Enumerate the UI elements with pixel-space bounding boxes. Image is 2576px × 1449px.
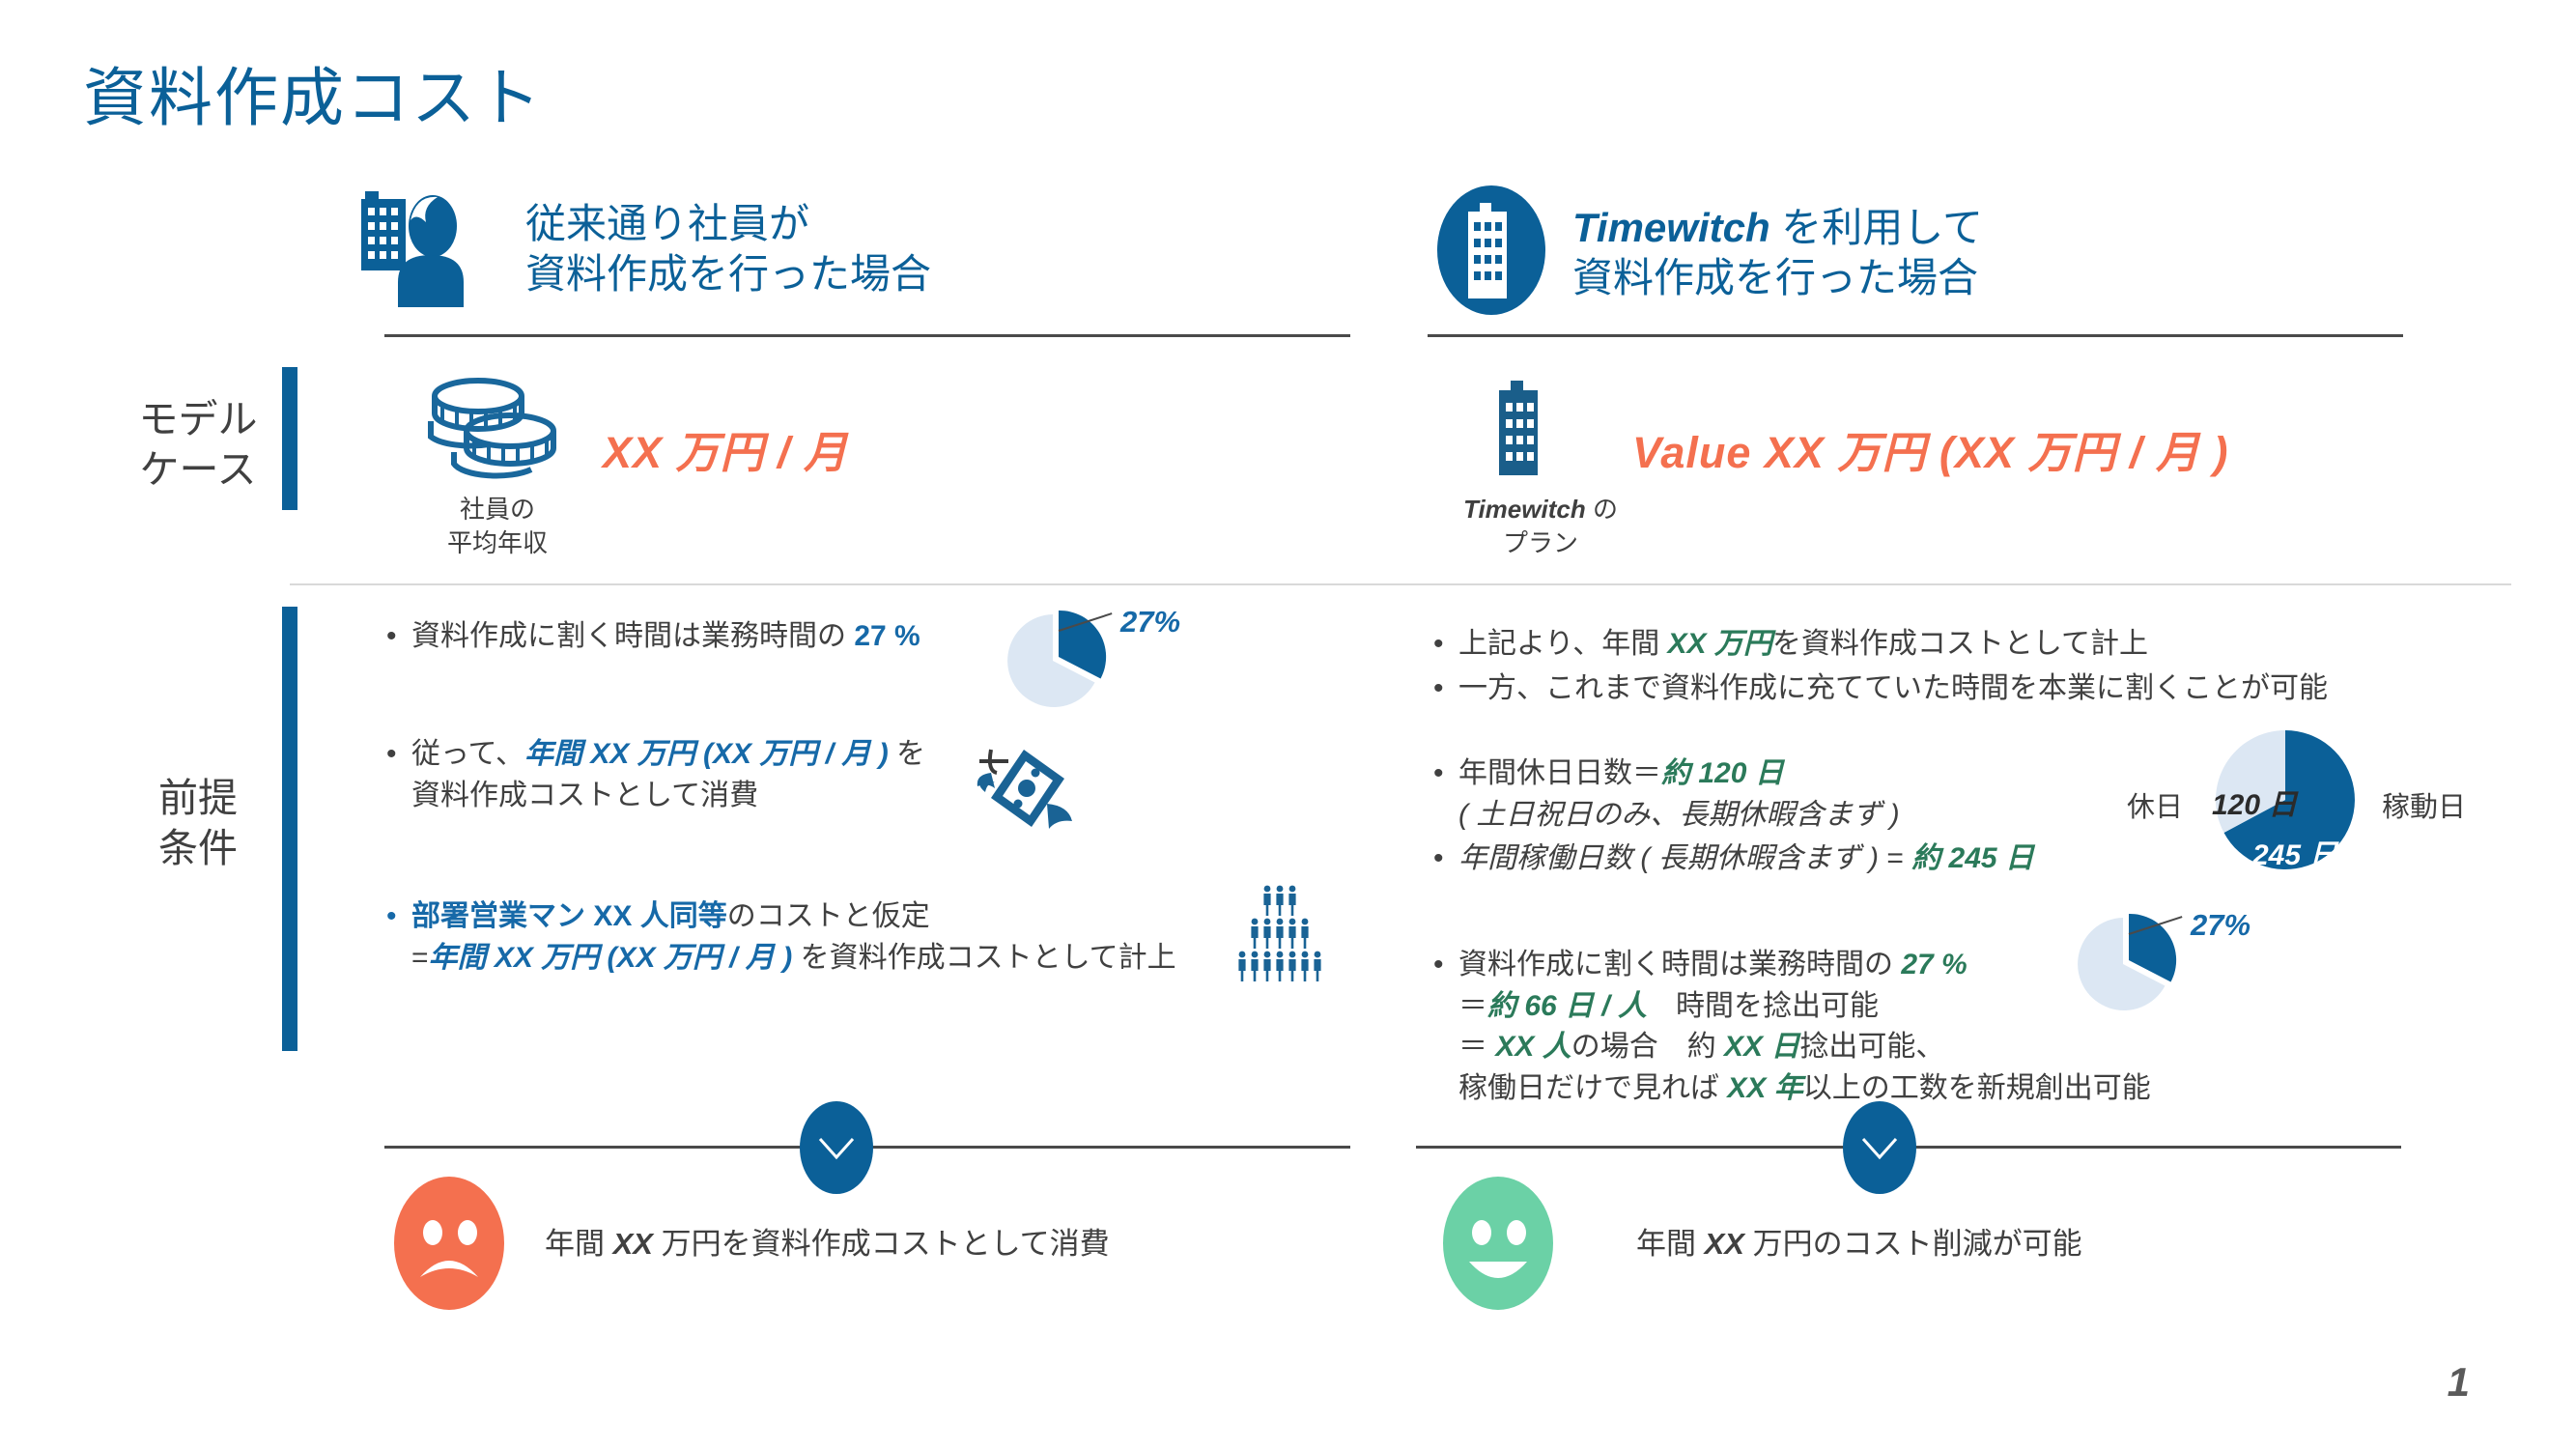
row-label-premise: 前提 条件 (97, 773, 299, 874)
right-footer-text-strong: XX (1705, 1227, 1744, 1261)
right-column-header-text: Timewitch を利用して 資料作成を行った場合 (1572, 203, 1983, 301)
right-footer-text-post: 万円のコスト削減が可能 (1744, 1227, 2082, 1261)
bullet-span: の場合 約 (1571, 1031, 1724, 1063)
right-model-caption-line2: プラン (1430, 526, 1652, 560)
bullet-text: 資料作成に割く時間は業務時間の 27 % (411, 616, 920, 658)
right-footer-text: 年間 XX 万円のコスト削減が可能 (1636, 1219, 2082, 1263)
bullet-span: = (411, 942, 429, 974)
right-header-rule (1428, 334, 2403, 337)
bullet-span: 上記より、年間 (1458, 628, 1668, 660)
bullet-span-highlight: 27 % (854, 620, 920, 652)
right-header-line2: 資料作成を行った場合 (1572, 255, 1978, 300)
row-accent-bar-model-case (282, 367, 297, 510)
bullet-span: を (889, 738, 925, 770)
bullet-marker: • (386, 616, 411, 658)
bullet-span-highlight: 年間 XX 万円 (XX 万円 / 月 ) (429, 942, 793, 974)
bullet-span-highlight: XX 万円 (1668, 628, 1772, 660)
bullet-span: 年間稼働日数 ( 長期休暇含まず ) (1458, 842, 1879, 874)
happy-face-icon (1443, 1177, 1553, 1310)
page-number: 1 (2448, 1359, 2470, 1406)
bullet-text: 上記より、年間 XX 万円を資料作成コストとして計上 (1458, 624, 2148, 666)
bullet-span: 資料作成コストとして消費 (411, 780, 758, 811)
row-label-model-case: モデル ケース (97, 394, 299, 496)
list-item: • 従って、年間 XX 万円 (XX 万円 / 月 ) を 資料作成コストとして… (386, 734, 925, 816)
brand-name: Timewitch (1572, 205, 1770, 250)
right-pct-pie-chart (2071, 910, 2191, 1021)
row-label-premise-line2: 条件 (97, 823, 299, 873)
list-item: • 上記より、年間 XX 万円を資料作成コストとして計上 (1433, 624, 2148, 666)
bullet-span: 捻出可能、 (1799, 1031, 1944, 1063)
bullet-span-highlight: 約 245 日 (1911, 842, 2034, 874)
right-pie-label-workday: 245 日 (2252, 831, 2337, 873)
bullet-text: 一方、これまで資料作成に充てていた時間を本業に割くことが可能 (1458, 668, 2328, 710)
right-model-caption-brand: Timewitch (1463, 495, 1586, 524)
row-accent-bar-premise (282, 607, 297, 1051)
bullet-span: 資料作成に割く時間は業務時間の (411, 620, 854, 652)
bullet-marker: • (1433, 624, 1458, 666)
sad-face-icon (394, 1177, 504, 1310)
building-circle-icon (1428, 184, 1572, 322)
row-label-model-case-line2: ケース (97, 444, 299, 495)
bullet-span: 稼働日だけで見れば (1458, 1072, 1727, 1104)
coin-stack-icon (425, 375, 560, 488)
bullet-span: ＝ (1458, 1031, 1495, 1063)
right-model-caption-rest: の (1586, 495, 1618, 524)
bullet-span: を資料作成コストとして計上 (1772, 628, 2148, 660)
people-pyramid-icon (1238, 881, 1335, 988)
bullet-span: のコストと仮定 (727, 900, 930, 932)
list-item: • 資料作成に割く時間は業務時間の 27 % ＝約 66 日 / 人 時間を捻出… (1433, 945, 2151, 1109)
left-footer-text-strong: XX (613, 1227, 653, 1261)
chevron-down-icon (1843, 1101, 1916, 1194)
page-title: 資料作成コスト (83, 46, 543, 139)
bullet-marker: • (1433, 838, 1458, 880)
left-model-caption-line1: 社員の (406, 493, 589, 526)
left-model-caption-line2: 平均年収 (406, 526, 589, 560)
left-footer-text: 年間 XX 万円を資料作成コストとして消費 (545, 1219, 1110, 1263)
left-column-header-text: 従来通り社員が 資料作成を行った場合 (525, 199, 931, 298)
bullet-span: を資料作成コストとして計上 (792, 942, 1175, 974)
row-label-premise-line1: 前提 (97, 773, 299, 823)
bullet-span-highlight: 年間 XX 万円 (XX 万円 / 月 ) (524, 738, 889, 770)
list-item: • 一方、これまで資料作成に充てていた時間を本業に割くことが可能 (1433, 668, 2328, 710)
list-item: • 年間稼働日数 ( 長期休暇含まず ) = 約 245 日 (1433, 838, 2034, 880)
bullet-span: 一方、これまで資料作成に充てていた時間を本業に割くことが可能 (1458, 672, 2328, 704)
row-label-model-case-line1: モデル (97, 394, 299, 444)
bullet-text: 従って、年間 XX 万円 (XX 万円 / 月 ) を 資料作成コストとして消費 (411, 734, 925, 816)
chevron-down-icon (800, 1101, 873, 1194)
left-model-caption: 社員の 平均年収 (406, 493, 589, 560)
list-item: • 年間休日日数＝約 120 日 ( 土日祝日のみ、長期休暇含まず ) (1433, 753, 1900, 836)
flying-money-icon (976, 744, 1082, 845)
bullet-span-highlight: XX 日 (1724, 1031, 1799, 1063)
right-pie-legend-right: 稼動日 (2382, 784, 2466, 825)
left-footer-text-pre: 年間 (545, 1227, 613, 1261)
right-model-caption-line1: Timewitch の (1430, 493, 1652, 526)
bullet-text: 年間休日日数＝約 120 日 ( 土日祝日のみ、長期休暇含まず ) (1458, 753, 1900, 836)
bullet-span-highlight: 約 120 日 (1661, 757, 1784, 789)
left-header-line1: 従来通り社員が (525, 201, 809, 246)
left-column-header: 従来通り社員が 資料作成を行った場合 (359, 184, 931, 314)
bullet-span: 時間を捻出可能 (1647, 990, 1879, 1022)
bullet-marker: • (386, 896, 411, 979)
bullet-marker: • (1433, 753, 1458, 836)
bullet-span: ＝ (1458, 990, 1487, 1022)
right-pct-pie-annotation: 27% (2191, 908, 2250, 943)
bullet-span: = (1879, 842, 1911, 874)
left-model-value: XX 万円 / 月 (603, 417, 848, 480)
bullet-marker: • (1433, 668, 1458, 710)
office-person-icon (359, 184, 525, 314)
bullet-span-highlight: 27 % (1901, 949, 1967, 980)
left-footer-text-post: 万円を資料作成コストとして消費 (653, 1227, 1110, 1261)
right-pie-legend-left: 休日 (2127, 784, 2183, 825)
right-column-header: Timewitch を利用して 資料作成を行った場合 (1428, 184, 1983, 322)
right-pie-label-holiday: 120 日 (2212, 781, 2297, 823)
right-model-caption: Timewitch の プラン (1430, 493, 1652, 560)
bullet-span-highlight: XX 人 (1495, 1031, 1571, 1063)
bullet-span-highlight: 部署営業マン XX 人同等 (411, 900, 727, 932)
left-pie-chart (1001, 607, 1120, 718)
bullet-span-highlight: XX 年 (1727, 1072, 1802, 1104)
slide-root: 資料作成コスト 従来通り社員が 資料 (0, 0, 2576, 1449)
right-header-line1-rest: を利用して (1770, 205, 1983, 250)
bullet-span: 従って、 (411, 738, 524, 770)
right-footer-text-pre: 年間 (1636, 1227, 1705, 1261)
bullet-span: 年間休日日数＝ (1458, 757, 1661, 789)
building-icon (1487, 379, 1551, 484)
bullet-span: 資料作成に割く時間は業務時間の (1458, 949, 1901, 980)
right-model-value: Value XX 万円 (XX 万円 / 月 ) (1632, 417, 2228, 480)
left-header-rule (384, 334, 1350, 337)
bullet-span: ( 土日祝日のみ、長期休暇含まず ) (1458, 799, 1900, 831)
list-item: • 資料作成に割く時間は業務時間の 27 % (386, 616, 920, 658)
bullet-text: 資料作成に割く時間は業務時間の 27 % ＝約 66 日 / 人 時間を捻出可能… (1458, 945, 2151, 1109)
left-header-line2: 資料作成を行った場合 (525, 251, 931, 297)
row-divider (290, 583, 2511, 585)
bullet-text: 部署営業マン XX 人同等のコストと仮定 =年間 XX 万円 (XX 万円 / … (411, 896, 1176, 979)
bullet-marker: • (386, 734, 411, 816)
left-pie-annotation: 27% (1120, 605, 1180, 639)
bullet-span-highlight: 約 66 日 / 人 (1487, 990, 1647, 1022)
bullet-text: 年間稼働日数 ( 長期休暇含まず ) = 約 245 日 (1458, 838, 2034, 880)
list-item: • 部署営業マン XX 人同等のコストと仮定 =年間 XX 万円 (XX 万円 … (386, 896, 1176, 979)
bullet-span: 以上の工数を新規創出可能 (1803, 1072, 2151, 1104)
bullet-marker: • (1433, 945, 1458, 1109)
